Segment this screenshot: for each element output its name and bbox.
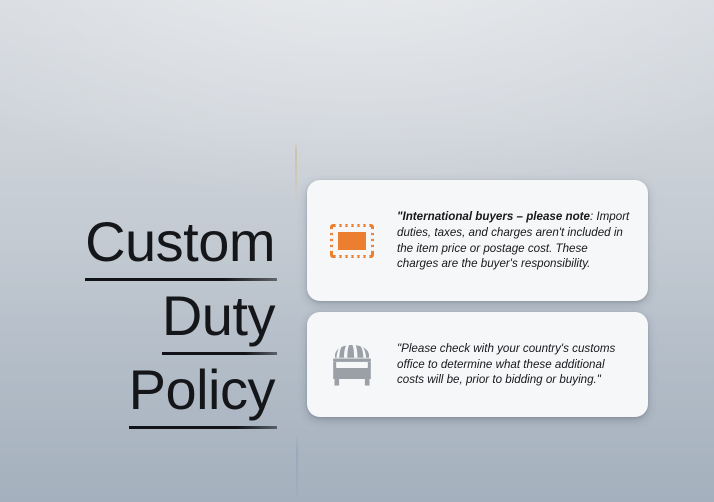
card-icon-slot <box>307 218 397 264</box>
page-title: Custom Duty Policy <box>40 206 275 428</box>
card-body-text: "Please check with your country's custom… <box>397 342 615 387</box>
vertical-divider-top <box>295 141 297 201</box>
vertical-divider-bottom <box>296 432 298 502</box>
title-line-2: Duty <box>40 280 275 354</box>
postage-stamp-icon <box>329 218 375 264</box>
card-text: "Please check with your country's custom… <box>397 341 648 388</box>
title-line-3: Policy <box>40 354 275 428</box>
info-card-international-buyers: "International buyers – please note: Imp… <box>307 180 648 301</box>
card-icon-slot <box>307 343 397 387</box>
info-card-customs-office: "Please check with your country's custom… <box>307 312 648 417</box>
slide-canvas: Custom Duty Policy <box>0 0 714 502</box>
storefront-icon <box>329 343 375 387</box>
card-lead-text: "International buyers – please note <box>397 210 590 223</box>
card-text: "International buyers – please note: Imp… <box>397 209 648 272</box>
title-line-1: Custom <box>40 206 275 280</box>
